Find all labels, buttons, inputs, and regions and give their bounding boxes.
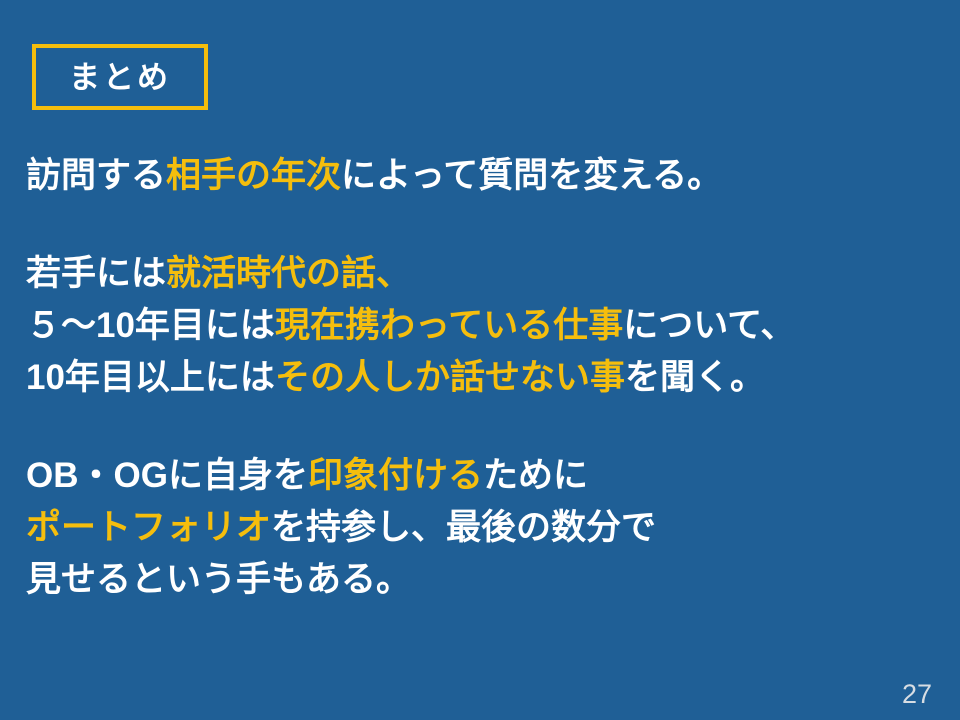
plain-text: 若手には — [26, 254, 166, 293]
text-line: 訪問する相手の年次によって質問を変える。 — [26, 150, 946, 202]
text-line: 若手には就活時代の話、 — [26, 248, 946, 300]
highlighted-text: ポートフォリオ — [26, 508, 271, 547]
text-line: 10年目以上にはその人しか話せない事を聞く。 — [26, 352, 946, 404]
slide-canvas: まとめ 訪問する相手の年次によって質問を変える。若手には就活時代の話、５〜10年… — [0, 0, 960, 720]
plain-text: 訪問する — [26, 156, 166, 195]
text-paragraph: 若手には就活時代の話、５〜10年目には現在携わっている仕事について、10年目以上… — [26, 248, 946, 404]
text-line: ５〜10年目には現在携わっている仕事について、 — [26, 300, 946, 352]
text-paragraph: OB・OGに自身を印象付けるためにポートフォリオを持参し、最後の数分で見せるとい… — [26, 450, 946, 606]
page-number: 27 — [902, 681, 932, 708]
plain-text: によって質問を変える。 — [341, 156, 722, 195]
text-line: ポートフォリオを持参し、最後の数分で — [26, 502, 946, 554]
text-line: 見せるという手もある。 — [26, 554, 946, 606]
text-paragraph: 訪問する相手の年次によって質問を変える。 — [26, 150, 946, 202]
slide-body: 訪問する相手の年次によって質問を変える。若手には就活時代の話、５〜10年目には現… — [26, 150, 946, 606]
text-line: OB・OGに自身を印象付けるために — [26, 450, 946, 502]
plain-text: 見せるという手もある。 — [26, 560, 411, 599]
section-title-box: まとめ — [32, 44, 208, 110]
highlighted-text: 就活時代の話、 — [166, 254, 411, 293]
highlighted-text: 現在携わっている仕事 — [275, 306, 623, 345]
plain-text: ５〜10年目には — [26, 306, 275, 345]
section-title-label: まとめ — [69, 62, 171, 93]
plain-text: ために — [483, 456, 588, 495]
highlighted-text: 相手の年次 — [166, 156, 341, 195]
highlighted-text: その人しか話せない事 — [275, 358, 625, 397]
plain-text: OB・OGに自身を — [26, 456, 308, 495]
plain-text: について、 — [623, 306, 795, 345]
highlighted-text: 印象付ける — [308, 456, 483, 495]
plain-text: 10年目以上には — [26, 358, 275, 397]
plain-text: を持参し、最後の数分で — [271, 508, 656, 547]
plain-text: を聞く。 — [625, 358, 765, 397]
